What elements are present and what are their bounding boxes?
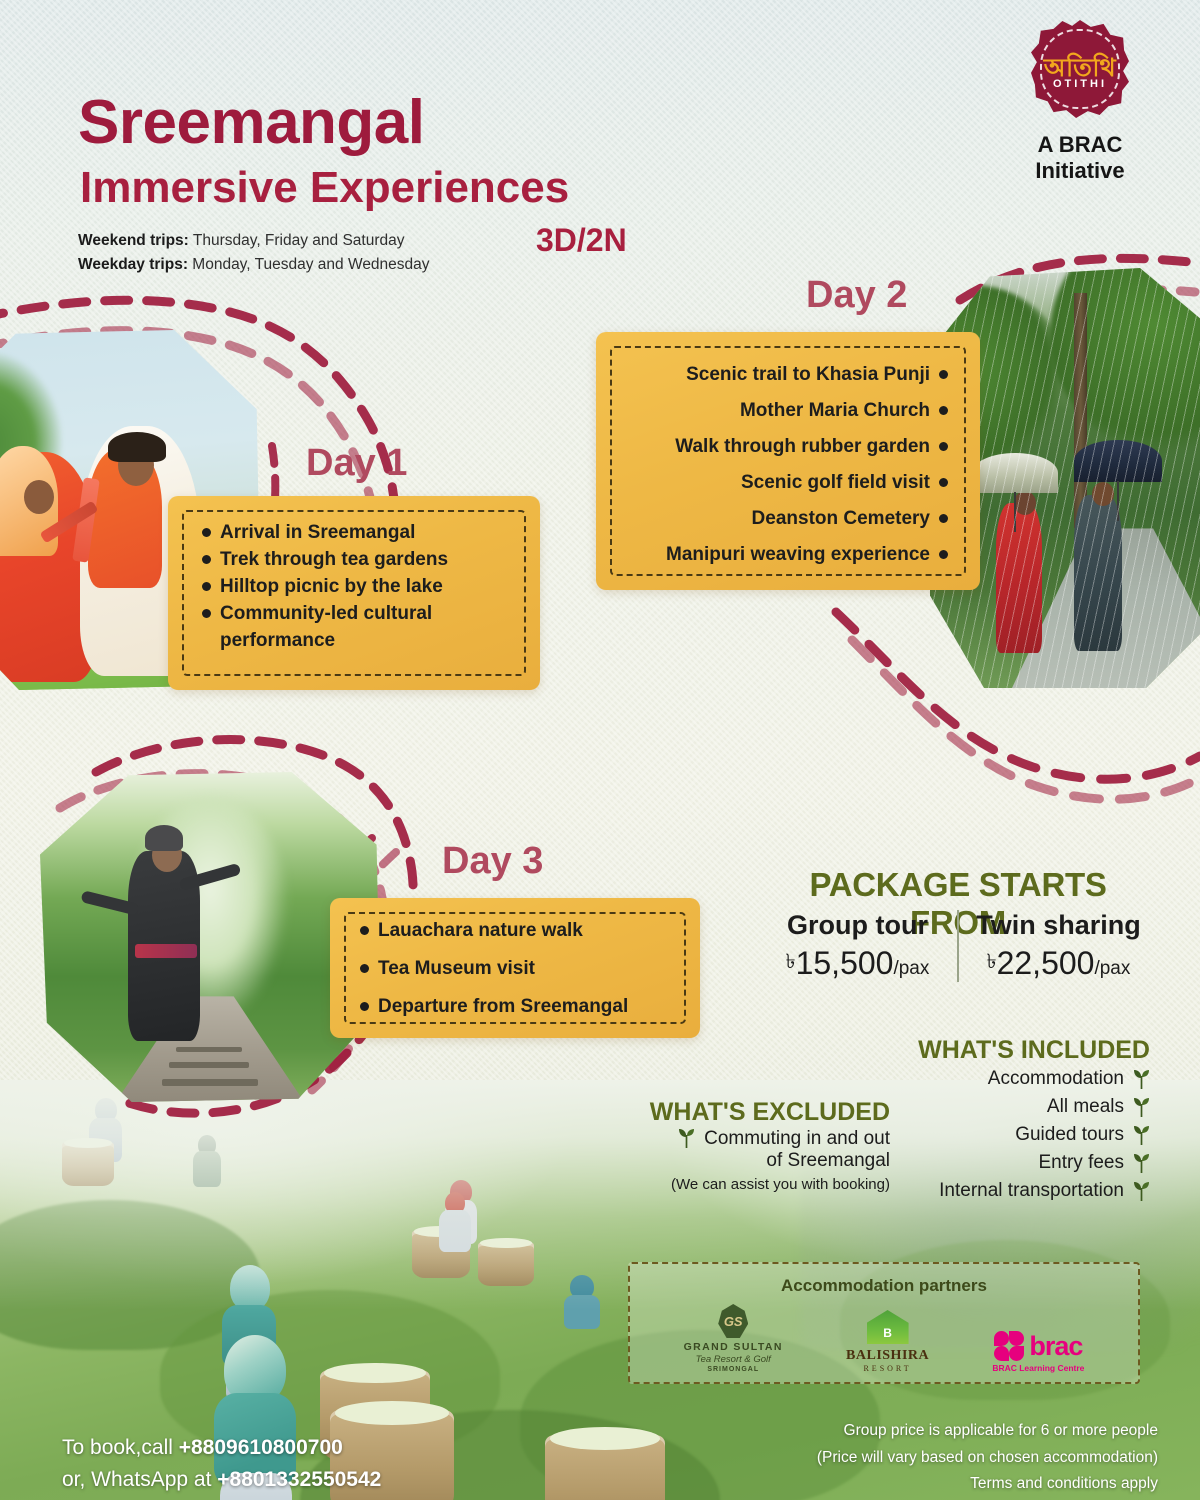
bullet-icon: [202, 555, 211, 564]
weekday-trips-line: Weekday trips: Monday, Tuesday and Wedne…: [78, 256, 430, 274]
leaf-icon: [1133, 1125, 1150, 1145]
excluded-item: Commuting in and out: [560, 1128, 890, 1150]
list-item: Trek through tea gardens: [202, 547, 516, 574]
leaf-icon: [1133, 1153, 1150, 1173]
day1-item-list: Arrival in Sreemangal Trek through tea g…: [202, 520, 516, 655]
list-item: Scenic golf field visit: [620, 470, 948, 497]
whats-excluded-heading: WHAT'S EXCLUDED: [560, 1098, 890, 1127]
bullet-icon: [939, 550, 948, 559]
list-item: Tea Museum visit: [360, 956, 676, 983]
price-grid: Group tour ৳15,500/pax Twin sharing ৳22,…: [758, 910, 1158, 982]
accommodation-partners-heading: Accommodation partners: [630, 1276, 1138, 1296]
twin-sharing-unit: /pax: [1094, 958, 1130, 979]
bullet-icon: [939, 514, 948, 523]
price-group-tour: Group tour ৳15,500/pax: [758, 910, 959, 982]
trip-duration: 3D/2N: [536, 222, 627, 259]
whats-included-heading: WHAT'S INCLUDED: [760, 1036, 1150, 1065]
list-item: Hilltop picnic by the lake: [202, 574, 516, 601]
photo-day3-railway-walk: [40, 772, 380, 1102]
day2-label: Day 2: [806, 274, 907, 317]
group-tour-label: Group tour: [758, 910, 957, 941]
balishira-sub: RESORT: [846, 1364, 929, 1373]
bullet-icon: [939, 406, 948, 415]
leaf-icon: [1133, 1181, 1150, 1201]
terms-line-2: (Price will vary based on chosen accommo…: [738, 1445, 1158, 1472]
booking-phone: +8809610800700: [179, 1436, 343, 1459]
twin-sharing-label: Twin sharing: [959, 910, 1158, 941]
bullet-icon: [939, 442, 948, 451]
bullet-icon: [360, 1002, 369, 1011]
grand-sultan-place: SRIMONGAL: [684, 1366, 783, 1373]
excluded-item-text: Commuting in and out: [704, 1128, 890, 1150]
twin-sharing-amount: 22,500: [997, 945, 1095, 981]
leaf-icon: [1133, 1097, 1150, 1117]
list-item: Arrival in Sreemangal: [202, 520, 516, 547]
brac-initiative-tagline: A BRAC Initiative: [1000, 132, 1160, 184]
booking-contact: To book,call +8809610800700 or, WhatsApp…: [62, 1432, 381, 1495]
excluded-item-line2: of Sreemangal: [560, 1150, 890, 1172]
partner-brac: brac BRAC Learning Centre: [992, 1331, 1084, 1373]
weekend-trips-days: Thursday, Friday and Saturday: [189, 232, 405, 249]
excluded-note: (We can assist you with booking): [560, 1176, 890, 1193]
list-item: Walk through rubber garden: [620, 434, 948, 461]
otithi-english-name: OTITHI: [1031, 78, 1129, 90]
group-tour-unit: /pax: [893, 958, 929, 979]
page-title: Sreemangal: [78, 92, 425, 154]
booking-whatsapp: +8801332550542: [217, 1468, 381, 1491]
taka-symbol: ৳: [786, 951, 796, 973]
weekday-trips-days: Monday, Tuesday and Wednesday: [188, 256, 430, 273]
booking-phone-line: To book,call +8809610800700: [62, 1432, 381, 1464]
list-item: Departure from Sreemangal: [360, 994, 676, 1021]
day1-card: Arrival in Sreemangal Trek through tea g…: [168, 496, 540, 690]
day1-label: Day 1: [306, 442, 407, 485]
list-item: Deanston Cemetery: [620, 506, 948, 533]
grand-sultan-sub: Tea Resort & Golf: [684, 1354, 783, 1365]
list-item: Manipuri weaving experience: [620, 542, 948, 569]
list-item: Accommodation: [700, 1068, 1150, 1090]
terms-line-3: Terms and conditions apply: [738, 1471, 1158, 1498]
balishira-house-icon: B: [867, 1310, 909, 1344]
partner-grand-sultan: GS GRAND SULTAN Tea Resort & Golf SRIMON…: [684, 1304, 783, 1373]
weekend-trips-label: Weekend trips:: [78, 232, 189, 249]
group-tour-price: ৳15,500/pax: [758, 945, 957, 982]
terms-notes: Group price is applicable for 6 or more …: [738, 1418, 1158, 1498]
day3-item-list: Lauachara nature walk Tea Museum visit D…: [360, 918, 676, 1032]
list-item: Scenic trail to Khasia Punji: [620, 362, 948, 389]
terms-line-1: Group price is applicable for 6 or more …: [738, 1418, 1158, 1445]
brac-wordmark: brac: [1029, 1333, 1082, 1360]
otithi-rosette-icon: অতিথি OTITHI: [1031, 20, 1129, 118]
balishira-name: BALISHIRA: [846, 1348, 929, 1364]
price-twin-sharing: Twin sharing ৳22,500/pax: [959, 910, 1158, 982]
bullet-icon: [360, 964, 369, 973]
day2-item-list: Scenic trail to Khasia Punji Mother Mari…: [620, 362, 948, 578]
bullet-icon: [360, 926, 369, 935]
leaf-icon: [1133, 1069, 1150, 1089]
list-item: Community-led cultural performance: [202, 601, 516, 655]
group-tour-amount: 15,500: [796, 945, 894, 981]
grand-sultan-icon: GS: [718, 1304, 748, 1338]
bullet-icon: [939, 478, 948, 487]
bullet-icon: [939, 370, 948, 379]
brac-learning-centre-label: BRAC Learning Centre: [992, 1363, 1084, 1373]
poster: Sreemangal Immersive Experiences 3D/2N W…: [0, 0, 1200, 1500]
list-item: Lauachara nature walk: [360, 918, 676, 945]
day3-card: Lauachara nature walk Tea Museum visit D…: [330, 898, 700, 1038]
weekend-trips-line: Weekend trips: Thursday, Friday and Satu…: [78, 232, 405, 250]
taka-symbol: ৳: [987, 951, 997, 973]
list-item: Mother Maria Church: [620, 398, 948, 425]
partner-balishira: B BALISHIRA RESORT: [846, 1310, 929, 1373]
otithi-logo: অতিথি OTITHI A BRAC Initiative: [1000, 20, 1160, 184]
leaf-icon: [678, 1128, 695, 1148]
day2-card: Scenic trail to Khasia Punji Mother Mari…: [596, 332, 980, 590]
day3-label: Day 3: [442, 840, 543, 883]
bullet-icon: [202, 609, 211, 618]
bullet-icon: [202, 528, 211, 537]
whats-excluded-body: Commuting in and out of Sreemangal (We c…: [560, 1128, 890, 1193]
accommodation-partners-box: Accommodation partners GS GRAND SULTAN T…: [628, 1262, 1140, 1384]
grand-sultan-name: GRAND SULTAN: [684, 1341, 783, 1353]
weekday-trips-label: Weekday trips:: [78, 256, 188, 273]
brac-pinwheel-icon: [994, 1331, 1024, 1361]
page-subtitle: Immersive Experiences: [80, 166, 569, 210]
booking-whatsapp-line: or, WhatsApp at +8801332550542: [62, 1464, 381, 1496]
twin-sharing-price: ৳22,500/pax: [959, 945, 1158, 982]
bullet-icon: [202, 582, 211, 591]
